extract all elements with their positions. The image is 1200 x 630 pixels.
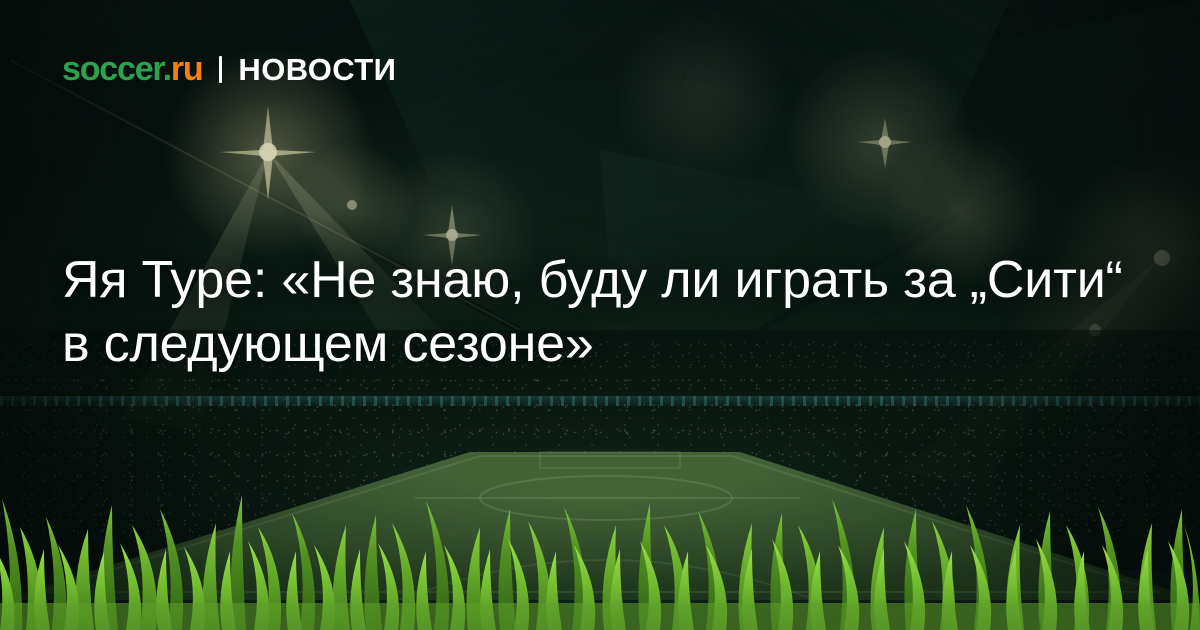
brand-separator — [219, 56, 222, 83]
page-title: Яя Туре: «Не знаю, буду ли играть за „Си… — [62, 248, 1147, 376]
logo-text-ru: ru — [171, 50, 203, 88]
logo-text-dot: . — [163, 50, 171, 88]
site-logo[interactable]: soccer.ru — [62, 52, 202, 86]
section-label-news: НОВОСТИ — [238, 54, 396, 85]
logo-text-soccer: soccer — [62, 50, 163, 88]
brand-bar: soccer.ru НОВОСТИ — [62, 49, 396, 89]
social-share-card: soccer.ru НОВОСТИ Яя Туре: «Не знаю, буд… — [0, 0, 1200, 630]
foreground-grass — [0, 465, 1200, 630]
